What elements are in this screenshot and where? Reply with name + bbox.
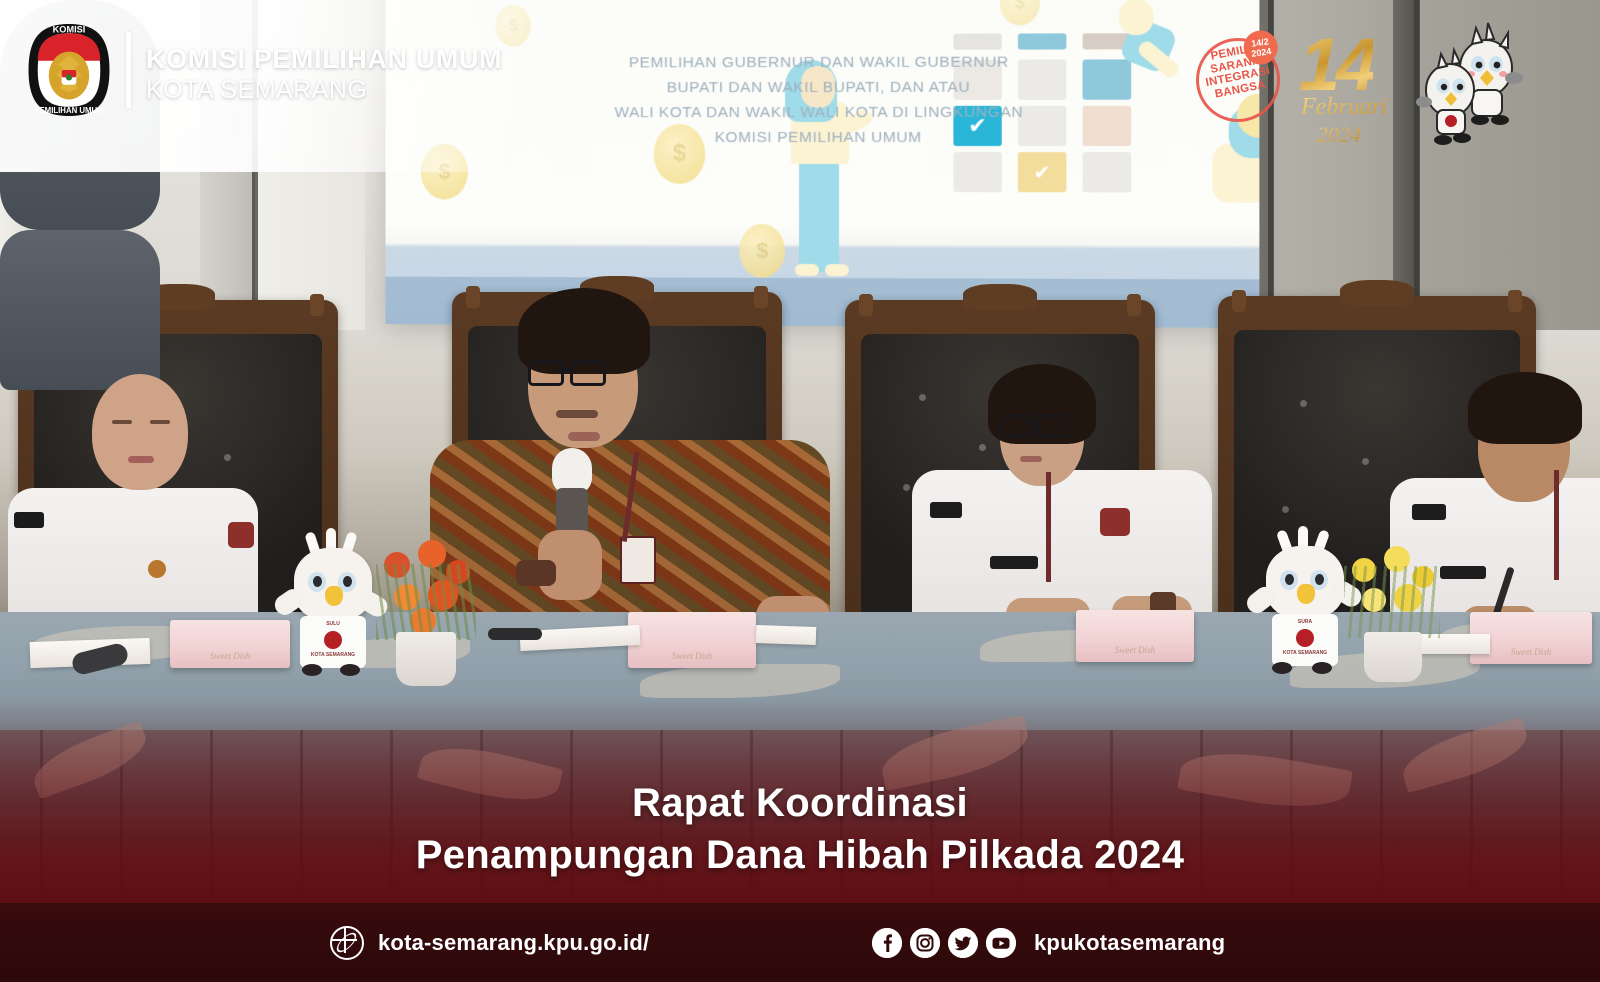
banner-title-line2: Penampungan Dana Hibah Pilkada 2024 xyxy=(0,828,1600,882)
election-date-badge: 14 Februari 2024 xyxy=(1295,22,1405,152)
globe-icon xyxy=(330,926,364,960)
coin-icon: $ xyxy=(1000,0,1040,26)
header-divider xyxy=(126,32,131,108)
slide-grid-cell xyxy=(1083,152,1132,192)
instagram-icon[interactable] xyxy=(910,928,940,958)
gift-box: Sweet Dish xyxy=(170,620,290,668)
slide-grid-cell xyxy=(953,34,1001,50)
poster-image: $ $ $ $ $ ✔ ✔ xyxy=(0,0,1600,982)
kpu-garuda-logo-icon: KOMISI PEMILIHAN UMUM xyxy=(23,22,115,118)
website-group[interactable]: kota-semarang.kpu.go.id/ xyxy=(330,926,649,960)
uniform-patch xyxy=(930,502,962,518)
document-paper xyxy=(756,625,817,645)
slide-illustration-person xyxy=(795,264,819,276)
mascot-doll-sura: SURA KOTA SEMARANG xyxy=(1258,534,1350,692)
svg-text:PEMILIHAN UMUM: PEMILIHAN UMUM xyxy=(34,106,103,115)
slide-grid-cell xyxy=(953,152,1001,192)
slide-illustration-person xyxy=(825,264,849,276)
social-handle[interactable]: kpukotasemarang xyxy=(1034,930,1225,956)
election-day-year: 2024 xyxy=(1317,122,1361,148)
sura-sulu-mascot-icon xyxy=(1410,20,1530,145)
slide-illustration-person xyxy=(799,154,839,272)
name-tag xyxy=(990,556,1038,569)
name-tag xyxy=(1440,566,1486,579)
slide-illustration-person xyxy=(1119,0,1153,35)
flower-pot-left xyxy=(372,536,482,686)
website-url[interactable]: kota-semarang.kpu.go.id/ xyxy=(378,930,649,956)
gift-box: Sweet Dish xyxy=(628,612,756,668)
header-org-line2: KOTA SEMARANG xyxy=(146,76,367,105)
svg-text:KOMISI: KOMISI xyxy=(53,24,86,34)
header-org-line1: KOMISI PEMILIHAN UMUM xyxy=(146,44,502,75)
eyeglasses-icon xyxy=(528,360,636,384)
gift-box: Sweet Dish xyxy=(1076,610,1194,662)
slide-checkbox-checked: ✔ xyxy=(1018,152,1066,192)
flower-pot-right xyxy=(1342,540,1446,682)
banner-title-line1: Rapat Koordinasi xyxy=(0,778,1600,828)
eyeglasses-icon xyxy=(1000,414,1086,436)
coin-icon: $ xyxy=(739,224,785,278)
coin-icon: $ xyxy=(496,5,531,47)
uniform-emblem xyxy=(1100,508,1130,536)
facebook-icon[interactable] xyxy=(872,928,902,958)
coin-icon: $ xyxy=(421,144,468,200)
footer-bar: kota-semarang.kpu.go.id/ kpukotasemarang xyxy=(0,903,1600,982)
slide-grid-cell xyxy=(1018,33,1066,49)
projector-screen: $ $ $ $ $ ✔ ✔ xyxy=(385,0,1259,328)
pemilu-stamp-badge: PEMILU SARANA INTEGRASI BANGSA 14/2 2024 xyxy=(1189,23,1287,138)
pen-on-table xyxy=(488,628,542,640)
slide-subtitle: PEMILIHAN GUBERNUR DAN WAKIL GUBERNUR BU… xyxy=(385,49,1259,150)
election-day-month: Februari xyxy=(1301,94,1388,121)
twitter-icon[interactable] xyxy=(948,928,978,958)
banner-title: Rapat Koordinasi Penampungan Dana Hibah … xyxy=(0,778,1600,882)
social-group[interactable]: kpukotasemarang xyxy=(872,928,1225,958)
youtube-icon[interactable] xyxy=(986,928,1016,958)
mascot-doll-sulu: SULU KOTA SEMARANG xyxy=(286,534,378,694)
uniform-patch xyxy=(1412,504,1446,520)
id-card xyxy=(620,536,656,584)
